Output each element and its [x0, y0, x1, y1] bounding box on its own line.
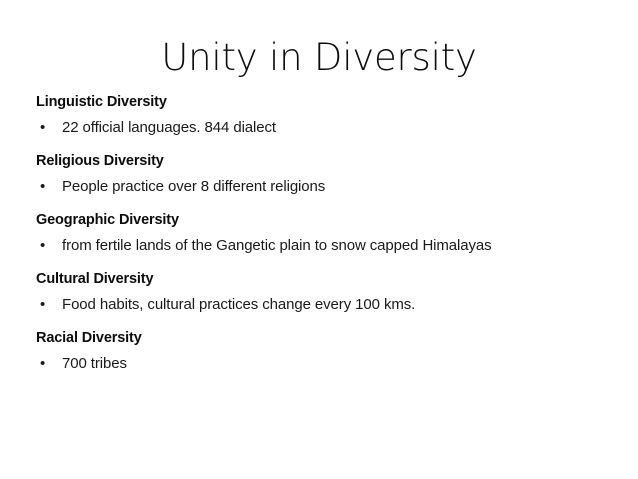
- list-item: • People practice over 8 different relig…: [36, 176, 616, 198]
- list-item: • 700 tribes: [36, 353, 616, 375]
- slide-body: Linguistic Diversity • 22 official langu…: [36, 93, 616, 375]
- page-title: Unity in Diversity: [0, 36, 638, 80]
- list-item: • from fertile lands of the Gangetic pla…: [36, 235, 616, 257]
- section-heading: Racial Diversity: [36, 329, 616, 348]
- list-item-text: from fertile lands of the Gangetic plain…: [62, 235, 616, 257]
- section-heading: Cultural Diversity: [36, 270, 616, 289]
- section-geographic-diversity: Geographic Diversity • from fertile land…: [36, 211, 616, 257]
- slide-canvas: Unity in Diversity Linguistic Diversity …: [0, 0, 638, 479]
- bullet-icon: •: [36, 117, 62, 139]
- bullet-icon: •: [36, 176, 62, 198]
- list-item: • 22 official languages. 844 dialect: [36, 117, 616, 139]
- section-cultural-diversity: Cultural Diversity • Food habits, cultur…: [36, 270, 616, 316]
- bullet-icon: •: [36, 235, 62, 257]
- list-item: • Food habits, cultural practices change…: [36, 294, 616, 316]
- bullet-icon: •: [36, 294, 62, 316]
- section-racial-diversity: Racial Diversity • 700 tribes: [36, 329, 616, 375]
- section-religious-diversity: Religious Diversity • People practice ov…: [36, 152, 616, 198]
- bullet-icon: •: [36, 353, 62, 375]
- list-item-text: 700 tribes: [62, 353, 616, 375]
- list-item-text: People practice over 8 different religio…: [62, 176, 616, 198]
- list-item-text: Food habits, cultural practices change e…: [62, 294, 616, 316]
- section-heading: Religious Diversity: [36, 152, 616, 171]
- section-heading: Linguistic Diversity: [36, 93, 616, 112]
- list-item-text: 22 official languages. 844 dialect: [62, 117, 616, 139]
- section-heading: Geographic Diversity: [36, 211, 616, 230]
- section-linguistic-diversity: Linguistic Diversity • 22 official langu…: [36, 93, 616, 139]
